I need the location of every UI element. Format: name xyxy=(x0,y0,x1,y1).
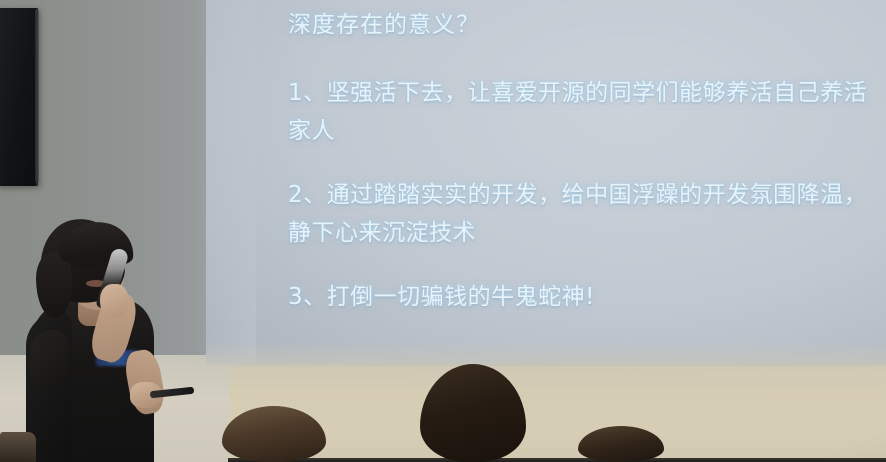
screenshot-root: 深度存在的意义？ 1、坚强活下去，让喜爱开源的同学们能够养活自己养活家人 2、通… xyxy=(0,0,886,462)
projection-bottom-edge xyxy=(206,340,886,366)
slide-bullet-3: 3、打倒一切骗钱的牛鬼蛇神! xyxy=(288,278,868,316)
audience-table-edge xyxy=(228,458,886,462)
slide-title: 深度存在的意义？ xyxy=(288,10,868,40)
presenter xyxy=(0,0,230,462)
slide-content: 深度存在的意义？ 1、坚强活下去，让喜爱开源的同学们能够养活自己养活家人 2、通… xyxy=(288,10,868,316)
slide-bullet-1: 1、坚强活下去，让喜爱开源的同学们能够养活自己养活家人 xyxy=(288,74,868,150)
presenter-sleeve xyxy=(30,330,68,390)
foreground-desk xyxy=(0,432,36,462)
presenter-mic-hand xyxy=(100,284,128,318)
slide-bullet-2: 2、通过踏踏实实的开发，给中国浮躁的开发氛围降温，静下心来沉淀技术 xyxy=(288,176,868,252)
